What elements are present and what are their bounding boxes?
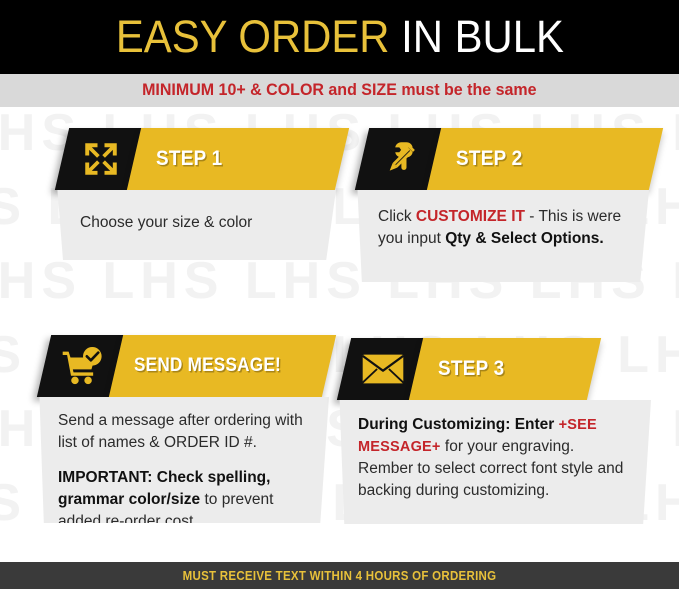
card-banner-label: STEP 2 (456, 147, 522, 171)
card-banner-label: STEP 1 (156, 147, 222, 171)
card-body-text: Choose your size & color (80, 212, 312, 234)
page-title: EASY ORDER IN BULK (115, 11, 563, 63)
card-header: STEP 3 (344, 338, 664, 400)
body-line: Send a message after ordering with list … (58, 410, 311, 454)
body-line: Click CUSTOMIZE IT - This is were you in… (378, 206, 629, 250)
seg-normal: Click (378, 208, 416, 225)
body-line: IMPORTANT: Check spelling, grammar color… (58, 467, 311, 533)
envelope-icon (361, 352, 405, 386)
card-header: STEP 1 (62, 128, 352, 190)
card-body-text: During Customizing: Enter +SEE MESSAGE+ … (358, 414, 633, 502)
subheader-text: MINIMUM 10+ & COLOR and SIZE must be the… (142, 81, 536, 100)
seg-emphasis-bold: IMPORTANT: (58, 469, 152, 486)
cart-check-icon (61, 346, 105, 386)
subheader-banner: MINIMUM 10+ & COLOR and SIZE must be the… (0, 74, 679, 107)
seg-normal: Choose your size & color (80, 214, 252, 231)
seg-emphasis-bold: During Customizing: Enter (358, 416, 559, 433)
card-step-3: STEP 3 During Customizing: Enter +SEE ME… (344, 338, 664, 524)
page-title-primary: EASY ORDER (115, 11, 389, 62)
seg-emphasis-bold: color/size (129, 491, 201, 508)
card-body: During Customizing: Enter +SEE MESSAGE+ … (338, 400, 651, 524)
card-banner-label: SEND MESSAGE! (134, 355, 281, 377)
body-line: Choose your size & color (80, 212, 312, 234)
wrench-pencil-icon (380, 138, 422, 180)
page-title-secondary: IN BULK (389, 11, 563, 62)
card-step-1: STEP 1 Choose your size & color (62, 128, 352, 260)
infographic-page: LHS LHS LHS LHS LHS LHS LHS LHS LHS LHS … (0, 0, 679, 589)
card-body-text: Send a message after ordering with list … (58, 410, 311, 533)
expand-arrows-icon (80, 138, 122, 180)
card-body: Click CUSTOMIZE IT - This is were you in… (356, 190, 649, 282)
seg-emphasis-red: CUSTOMIZE IT (416, 208, 525, 225)
card-banner: STEP 3 (409, 338, 601, 400)
card-banner-label: STEP 3 (438, 357, 504, 381)
card-banner: STEP 1 (127, 128, 349, 190)
footer-banner: MUST RECEIVE TEXT WITHIN 4 HOURS OF ORDE… (0, 562, 679, 589)
card-body: Choose your size & color (56, 190, 336, 260)
card-send-message: SEND MESSAGE! Send a message after order… (44, 335, 342, 523)
card-header: STEP 2 (362, 128, 662, 190)
seg-normal: Send a message after ordering with list … (58, 412, 303, 451)
card-body-text: Click CUSTOMIZE IT - This is were you in… (378, 206, 629, 250)
card-step-2: STEP 2 Click CUSTOMIZE IT - This is were… (362, 128, 662, 282)
card-banner: STEP 2 (427, 128, 663, 190)
card-header: SEND MESSAGE! (44, 335, 342, 397)
watermark-row: LHS LHS LHS LHS LHS LHS LHS LHS (0, 540, 679, 556)
body-line: During Customizing: Enter +SEE MESSAGE+ … (358, 414, 633, 502)
footer-text: MUST RECEIVE TEXT WITHIN 4 HOURS OF ORDE… (183, 569, 497, 583)
card-banner: SEND MESSAGE! (109, 335, 336, 397)
header-banner: EASY ORDER IN BULK (0, 0, 679, 74)
card-body: Send a message after ordering with list … (38, 397, 329, 523)
seg-emphasis-bold: Qty & Select Options. (445, 230, 603, 247)
